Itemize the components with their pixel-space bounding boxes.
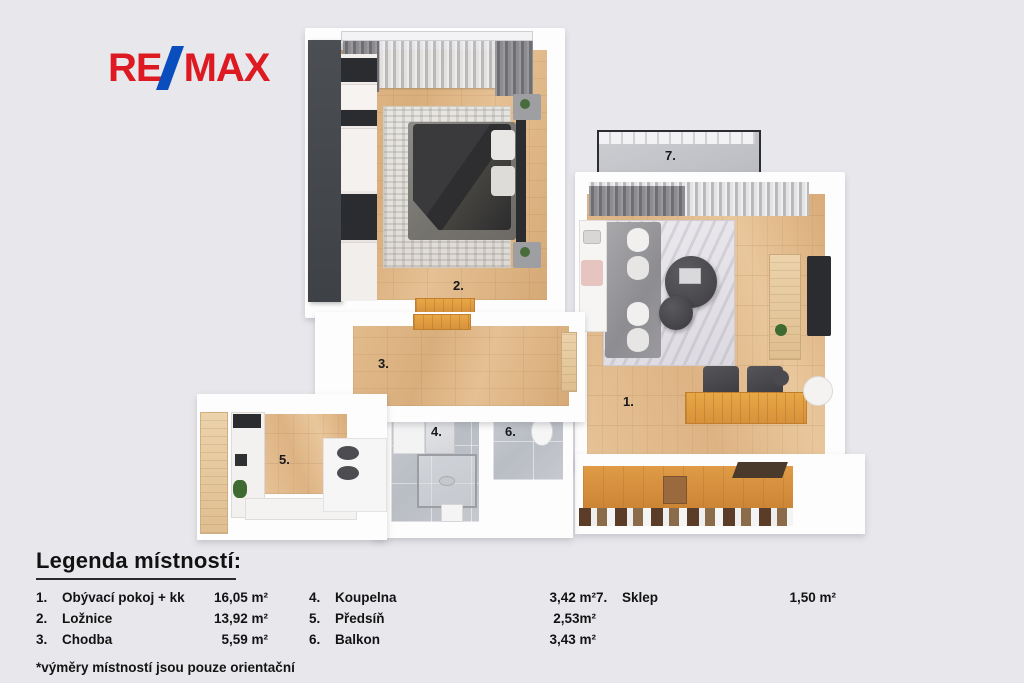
toilet-icon bbox=[531, 418, 553, 446]
legend-title-underline bbox=[36, 578, 236, 580]
legend-number: 4. bbox=[309, 589, 335, 607]
legend-number: 3. bbox=[36, 631, 62, 649]
legend-number: 1. bbox=[36, 589, 62, 607]
shelf-dark-2 bbox=[341, 110, 377, 126]
legend-row: 6. Balkon 3,43 m² bbox=[309, 631, 596, 649]
hallway-door-2 bbox=[561, 332, 577, 392]
bed-headboard bbox=[516, 118, 526, 244]
sofa-cushion-3 bbox=[627, 302, 649, 326]
legend-number: 6. bbox=[309, 631, 335, 649]
sofa-cushion-2 bbox=[627, 256, 649, 280]
balcony-tiles bbox=[579, 508, 793, 526]
legend: Legenda místností: 1. Obývací pokoj + kk… bbox=[36, 548, 986, 675]
cellar-shelf-lines bbox=[599, 132, 755, 144]
washing-machine-icon bbox=[441, 504, 463, 522]
stove-burner-1-icon bbox=[337, 446, 359, 460]
legend-room-name: Ložnice bbox=[62, 610, 202, 628]
legend-room-area: 16,05 m² bbox=[202, 589, 268, 607]
legend-title: Legenda místností: bbox=[36, 548, 241, 576]
coffee-table-book bbox=[679, 268, 701, 284]
tv-plant-icon bbox=[775, 324, 787, 336]
bed-pillow-2 bbox=[491, 166, 515, 196]
legend-footnote: *výměry místností jsou pouze orientační bbox=[36, 660, 986, 675]
legend-number: 5. bbox=[309, 610, 335, 628]
livingroom-blind-dark bbox=[589, 186, 685, 216]
legend-room-name: Chodba bbox=[62, 631, 202, 649]
coffee-table-small bbox=[659, 296, 693, 330]
legend-room-area: 2,53m² bbox=[530, 610, 596, 628]
entry-box-icon bbox=[235, 454, 247, 466]
entry-plant-icon bbox=[233, 480, 247, 498]
balcony-tile-dark bbox=[732, 462, 788, 478]
legend-room-name: Koupelna bbox=[335, 589, 530, 607]
legend-row: 2. Ložnice 13,92 m² bbox=[36, 610, 309, 628]
dining-counter bbox=[685, 392, 807, 424]
legend-row: 3. Chodba 5,59 m² bbox=[36, 631, 309, 649]
room-marker-7: 7. bbox=[665, 148, 676, 163]
room-marker-5: 5. bbox=[279, 452, 290, 467]
shelf-light-2 bbox=[341, 128, 377, 191]
shelf-light-1 bbox=[341, 84, 377, 109]
legend-room-area: 5,59 m² bbox=[202, 631, 268, 649]
legend-room-area: 3,42 m² bbox=[530, 589, 596, 607]
legend-column-2: 4. Koupelna 3,42 m² 5. Předsíň 2,53m² 6.… bbox=[309, 589, 596, 649]
balcony-door-icon bbox=[663, 476, 687, 504]
floorplan-page: RE MAX bbox=[0, 0, 1024, 683]
kitchen-sink-icon bbox=[583, 230, 601, 244]
legend-row: 5. Předsíň 2,53m² bbox=[309, 610, 596, 628]
legend-row: 7. Sklep 1,50 m² bbox=[596, 589, 836, 607]
nightstand-plant-top-icon bbox=[520, 99, 530, 109]
room-marker-4: 4. bbox=[431, 424, 442, 439]
stove-burner-2-icon bbox=[337, 466, 359, 480]
shower-drain-icon bbox=[439, 476, 455, 486]
legend-column-3: 7. Sklep 1,50 m² bbox=[596, 589, 836, 649]
legend-columns: 1. Obývací pokoj + kk 16,05 m² 2. Ložnic… bbox=[36, 589, 986, 649]
bedroom-curtain-right bbox=[495, 38, 533, 96]
tv-sideboard bbox=[769, 254, 801, 360]
floor-lamp-icon bbox=[773, 370, 789, 386]
side-table-round bbox=[803, 376, 833, 406]
logo-text-re: RE bbox=[108, 48, 162, 88]
legend-row: 4. Koupelna 3,42 m² bbox=[309, 589, 596, 607]
bedroom-wardrobe-tall bbox=[308, 40, 341, 302]
shelf-dark-3 bbox=[341, 194, 377, 240]
kitchen-accessory bbox=[581, 260, 603, 286]
entry-shelf-dark bbox=[233, 414, 261, 428]
entry-wardrobe-panel bbox=[200, 412, 228, 534]
legend-room-name: Předsíň bbox=[335, 610, 530, 628]
room-marker-2: 2. bbox=[453, 278, 464, 293]
legend-number: 7. bbox=[596, 589, 622, 607]
hallway-door-1 bbox=[413, 314, 471, 330]
tv-screen bbox=[807, 256, 831, 336]
legend-number: 2. bbox=[36, 610, 62, 628]
sofa-cushion-1 bbox=[627, 228, 649, 252]
legend-row: 1. Obývací pokoj + kk 16,05 m² bbox=[36, 589, 309, 607]
bedroom-window-frame bbox=[341, 31, 533, 41]
shelf-light-3 bbox=[341, 242, 377, 301]
legend-room-name: Sklep bbox=[622, 589, 770, 607]
legend-room-area: 3,43 m² bbox=[530, 631, 596, 649]
legend-room-name: Obývací pokoj + kk bbox=[62, 589, 202, 607]
legend-column-1: 1. Obývací pokoj + kk 16,05 m² 2. Ložnic… bbox=[36, 589, 309, 649]
room-marker-1: 1. bbox=[623, 394, 634, 409]
legend-room-area: 1,50 m² bbox=[770, 589, 836, 607]
shelf-dark-1 bbox=[341, 58, 377, 82]
room-marker-6b: 6. bbox=[505, 424, 516, 439]
legend-room-area: 13,92 m² bbox=[202, 610, 268, 628]
nightstand-plant-bottom-icon bbox=[520, 247, 530, 257]
bed-pillow-1 bbox=[491, 130, 515, 160]
floorplan-render: 2. 7. bbox=[175, 14, 875, 534]
sofa-cushion-4 bbox=[627, 328, 649, 352]
room-marker-3: 3. bbox=[378, 356, 389, 371]
legend-room-name: Balkon bbox=[335, 631, 530, 649]
